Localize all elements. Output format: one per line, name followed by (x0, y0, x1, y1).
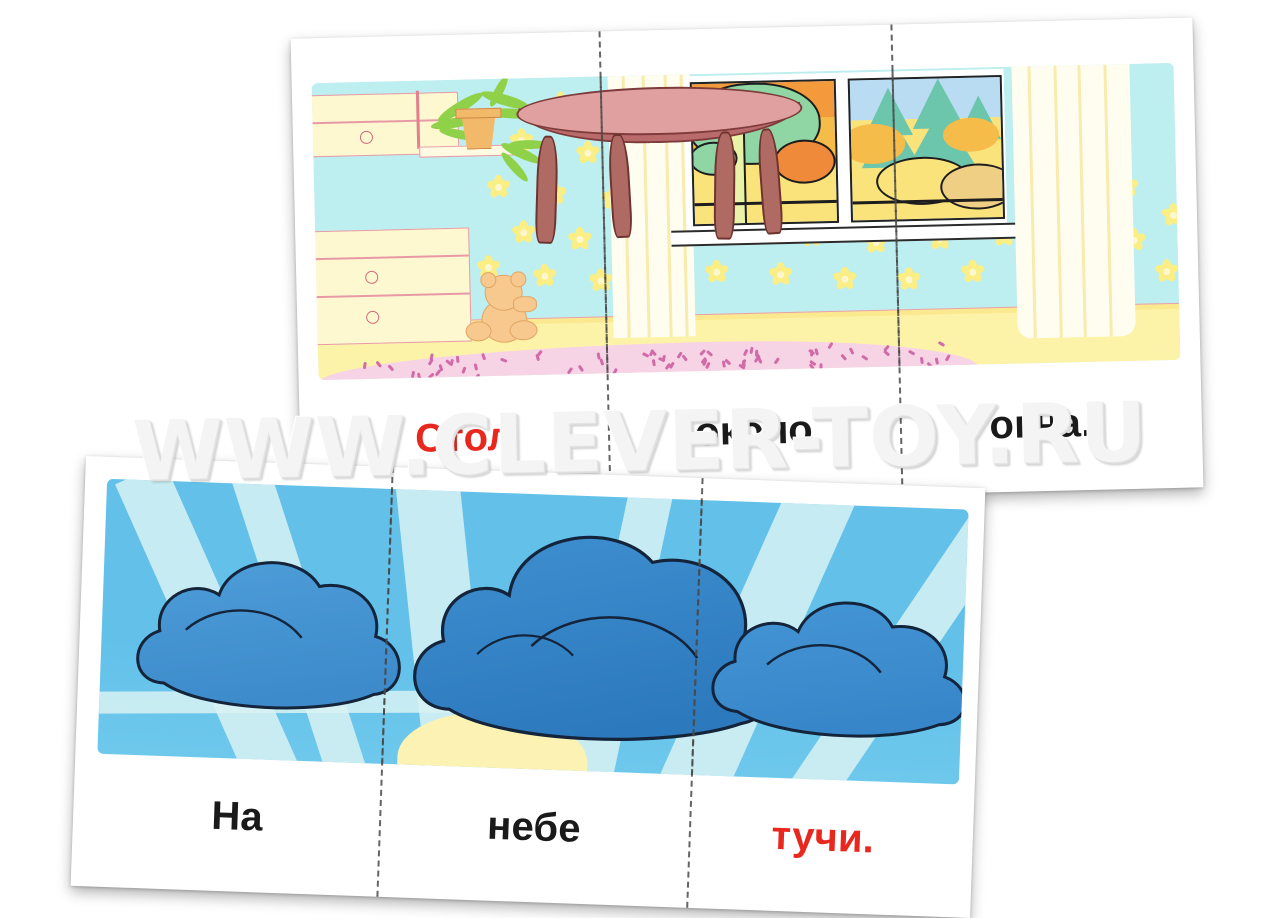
word-slot-3[interactable]: тучи. (688, 810, 957, 865)
flower-pot-rim (455, 108, 501, 119)
word-slot-2[interactable]: около (607, 405, 900, 457)
dresser-lower (312, 228, 472, 346)
wallpaper-flower (486, 175, 511, 200)
table-leg (535, 135, 559, 244)
card-na-nebe-tuchi[interactable]: На небе тучи. (71, 456, 986, 918)
wallpaper-flower (768, 262, 793, 287)
wallpaper-flower (704, 259, 729, 284)
table-leg (714, 131, 736, 239)
cloud-right (698, 570, 969, 764)
rug-speck (363, 362, 367, 369)
curtain-right (1011, 64, 1135, 339)
rug-speck (456, 356, 460, 363)
wallpaper-flower (1154, 259, 1179, 284)
card-stol-okolo-okna[interactable]: Стол около окна. (291, 17, 1204, 508)
scene-room-with-table (312, 63, 1181, 380)
wallpaper-flower (896, 267, 921, 292)
word-slot-3[interactable]: окна. (899, 398, 1182, 450)
teddy-bear (462, 274, 540, 342)
rug-speck (651, 359, 655, 366)
card-stage: Стол около окна. (0, 0, 1280, 905)
wallpaper-flower (511, 220, 536, 245)
scene-sky-with-clouds (97, 479, 968, 785)
wallpaper-flower (1161, 203, 1181, 228)
wallpaper-flower (960, 259, 985, 284)
word-slot-1[interactable]: На (94, 789, 379, 844)
wallpaper-flower (588, 268, 613, 293)
wallpaper-flower (832, 266, 857, 291)
word-slot-1[interactable]: Стол (320, 412, 609, 464)
wallpaper-flower (575, 140, 600, 165)
rug-speck (819, 363, 822, 370)
window-pane-right (848, 75, 1005, 223)
word-slot-2[interactable]: небе (378, 799, 689, 855)
wallpaper-flower (567, 227, 592, 252)
